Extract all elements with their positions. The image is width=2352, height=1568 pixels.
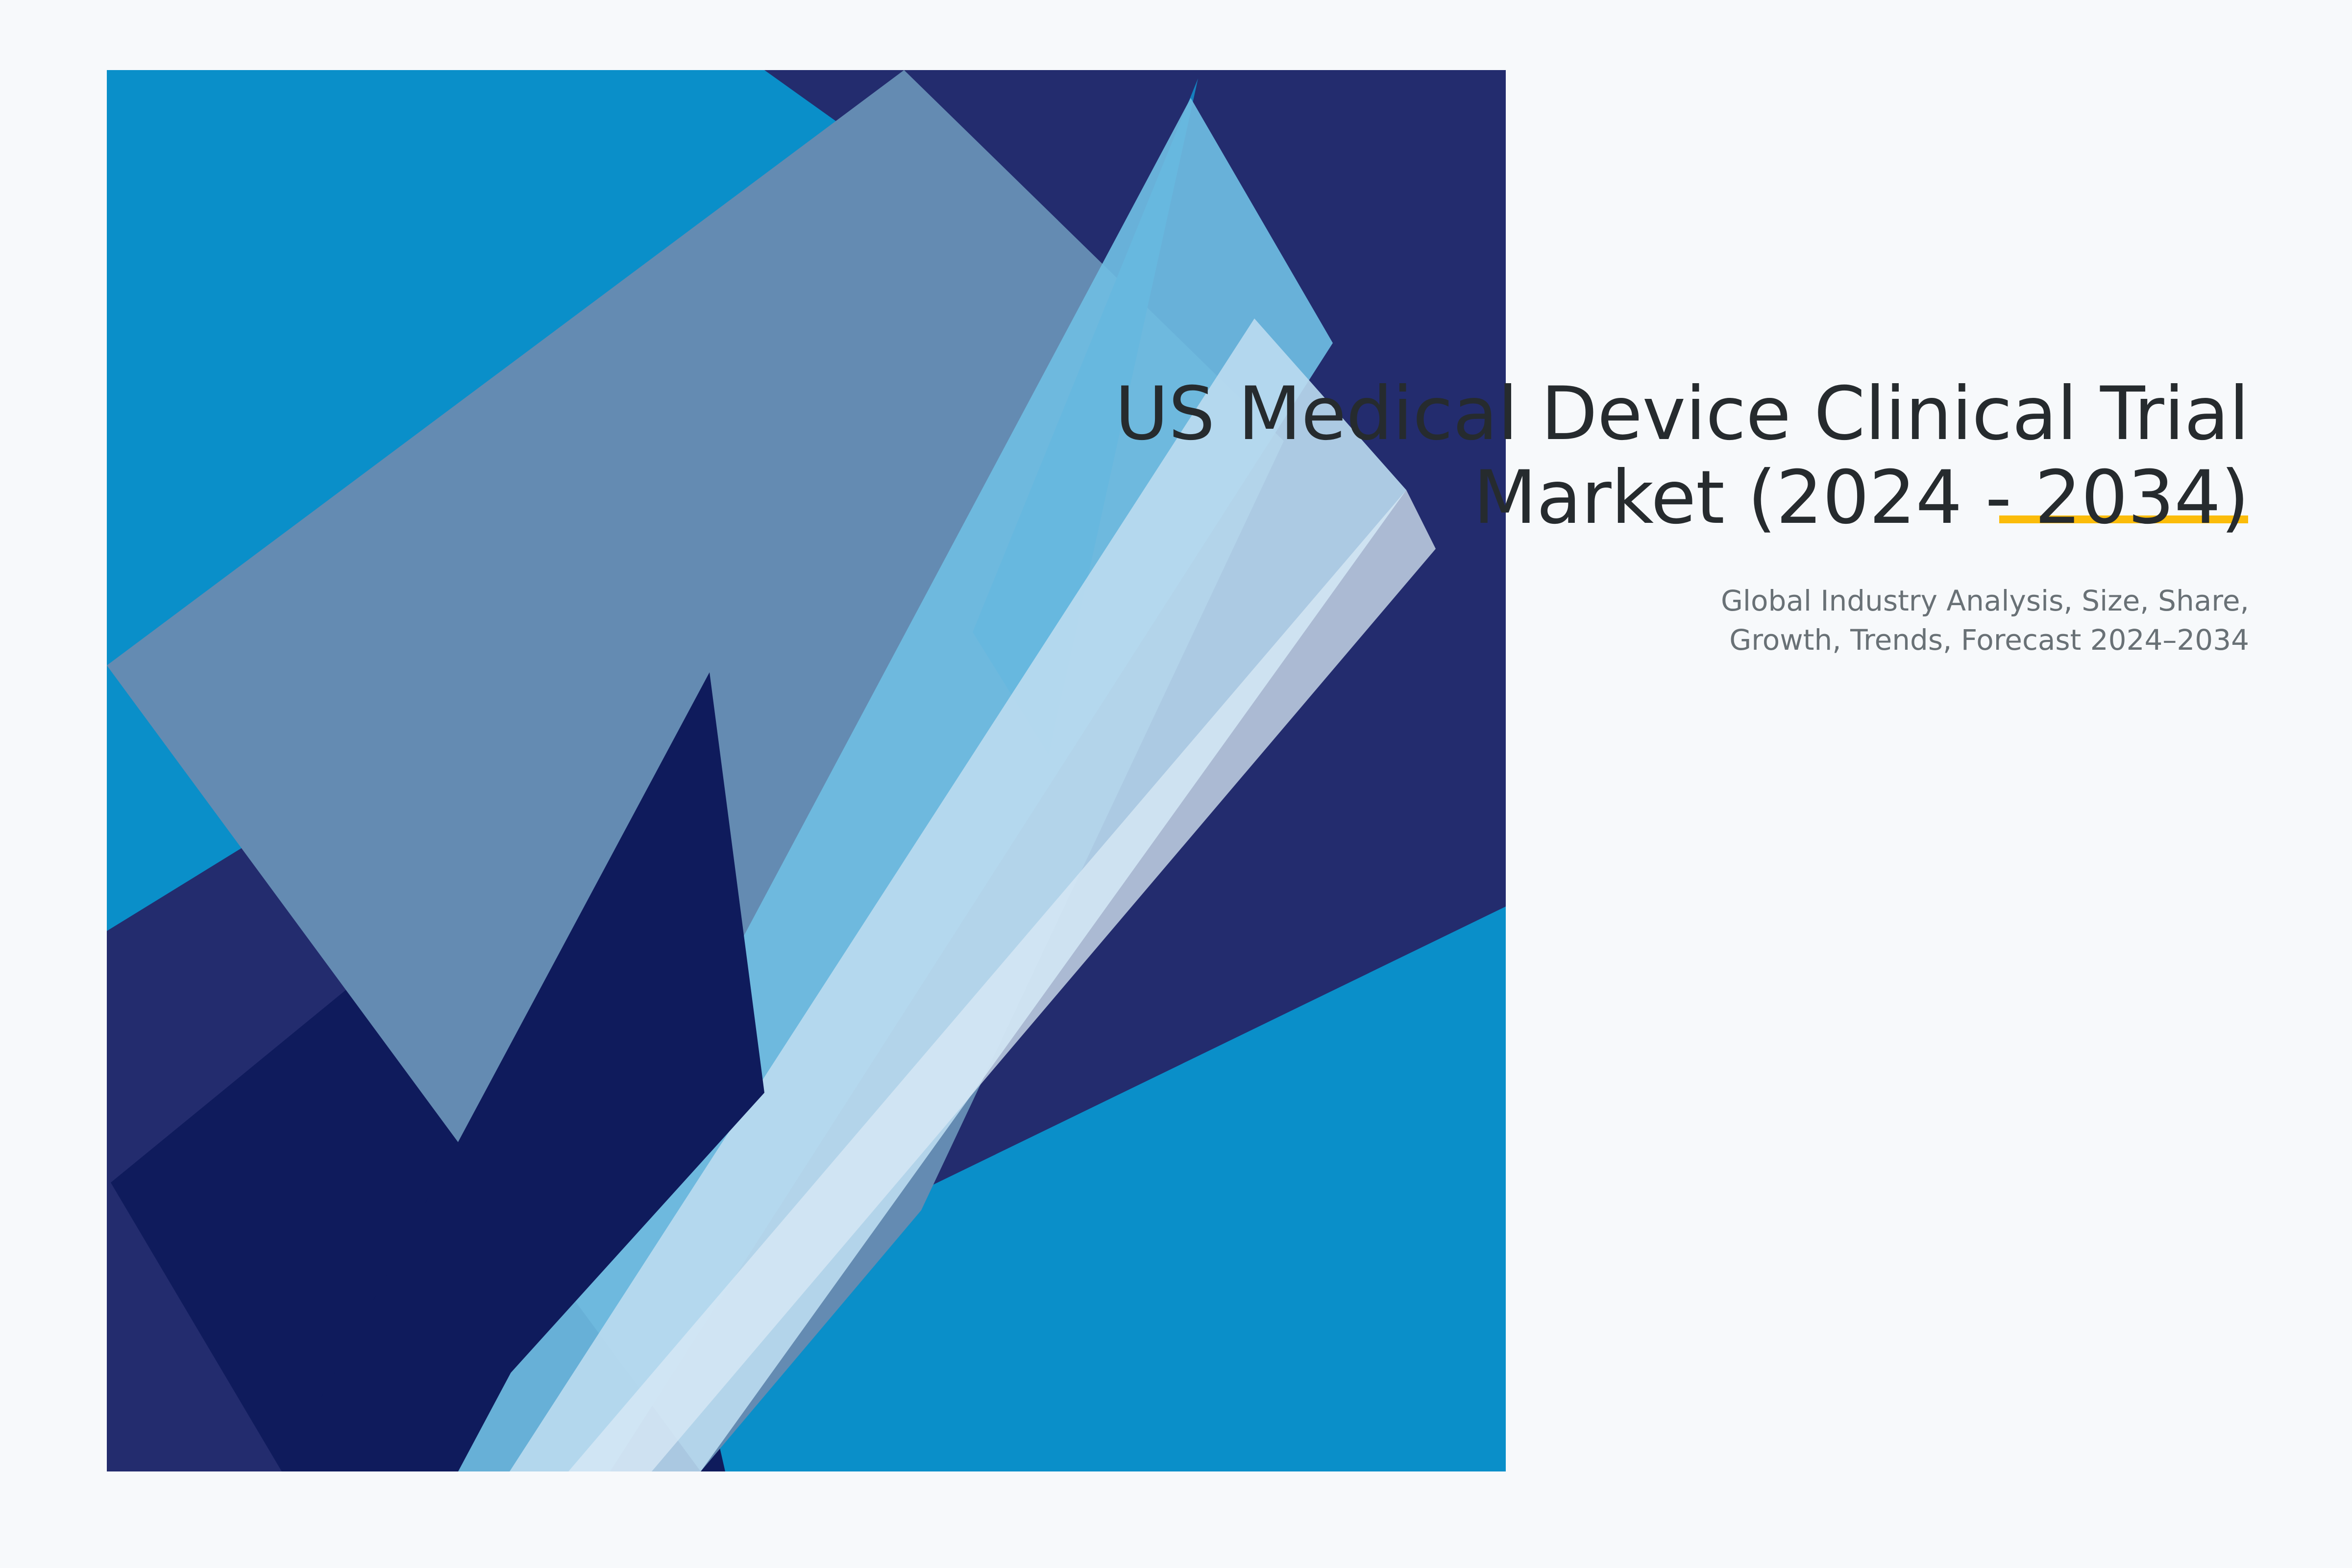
page-subtitle: Global Industry Analysis, Size, Share, G… <box>1068 581 2249 660</box>
page-title-line-1: US Medical Device Clinical Trial <box>1068 372 2249 456</box>
page-title: US Medical Device Clinical Trial Market … <box>1068 372 2249 540</box>
page-subtitle-line-2: Growth, Trends, Forecast 2024–2034 <box>1068 620 2249 660</box>
report-cover: US Medical Device Clinical Trial Market … <box>0 0 2352 1568</box>
page-title-line-2: Market (2024 - 2034) <box>1068 456 2249 540</box>
abstract-geometric-banner <box>0 0 2352 1568</box>
page-subtitle-line-1: Global Industry Analysis, Size, Share, <box>1068 581 2249 620</box>
cover-text-block: US Medical Device Clinical Trial Market … <box>1068 372 2249 660</box>
